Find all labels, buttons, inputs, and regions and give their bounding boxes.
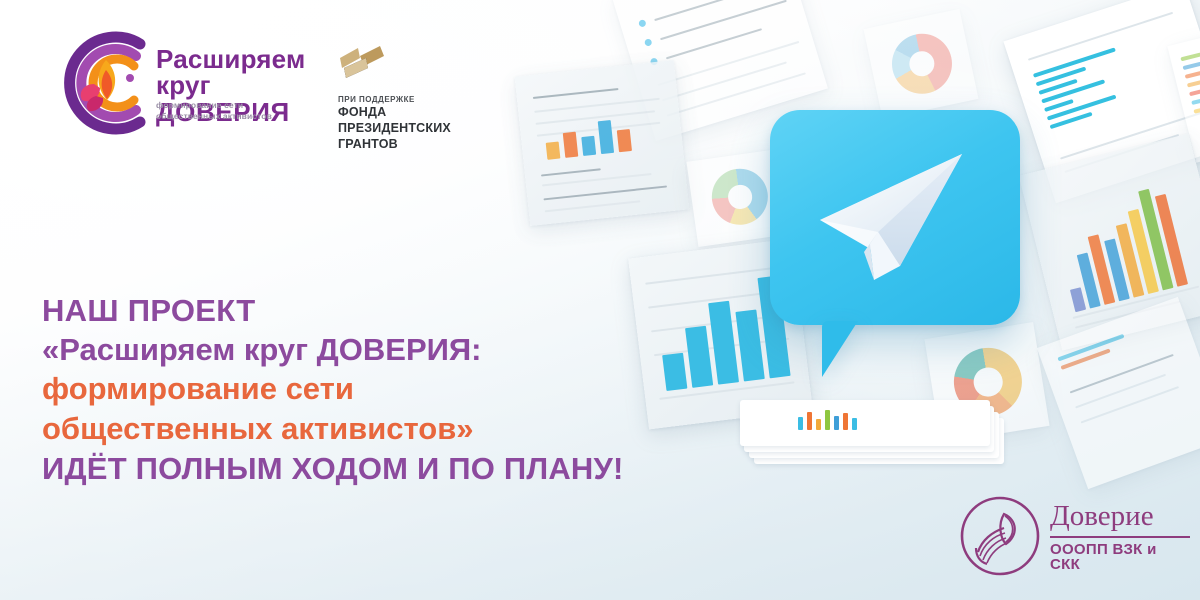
grants-name-line2: ПРЕЗИДЕНТСКИХ bbox=[338, 121, 468, 137]
stripe-bars bbox=[1180, 36, 1200, 114]
doverie-logo-text: Доверие ОООПП ВЗК и СКК bbox=[1050, 502, 1190, 572]
list-bullet-icon bbox=[638, 19, 647, 28]
paper-sheet-top bbox=[740, 400, 990, 446]
grants-name-line3: ГРАНТОВ bbox=[338, 137, 468, 153]
telegram-speech-bubble bbox=[770, 110, 1020, 325]
project-logo-subtitle: формирование сети общественных активисто… bbox=[156, 100, 276, 123]
donut-chart-muted bbox=[708, 165, 771, 228]
donut-chart-red-card bbox=[864, 9, 979, 119]
headline-line-3: формирование сети bbox=[42, 369, 742, 409]
bar bbox=[825, 410, 830, 430]
bar bbox=[852, 418, 857, 430]
presidential-grants-fund-logo: ПРИ ПОДДЕРЖКЕ ФОНДА ПРЕЗИДЕНТСКИХ ГРАНТО… bbox=[338, 44, 468, 152]
headline: НАШ ПРОЕКТ «Расширяем круг ДОВЕРИЯ: форм… bbox=[42, 292, 742, 489]
doverie-logo-rule bbox=[1050, 536, 1190, 538]
bar bbox=[546, 142, 561, 160]
bar bbox=[581, 136, 596, 156]
doc-line bbox=[1075, 374, 1166, 409]
doc-line bbox=[1081, 386, 1179, 423]
project-logo-title-line1: Расширяем круг bbox=[156, 46, 334, 98]
headline-line-2: «Расширяем круг ДОВЕРИЯ: bbox=[42, 330, 742, 370]
card-line bbox=[543, 185, 667, 200]
bar-chart-card-orange-blue bbox=[515, 60, 690, 226]
doverie-logo: Доверие ОООПП ВЗК и СКК bbox=[958, 492, 1188, 584]
bubble-tail bbox=[822, 321, 858, 377]
bar bbox=[834, 416, 839, 430]
circle-flame-butterfly-icon bbox=[44, 22, 162, 144]
bar bbox=[563, 132, 579, 158]
card-line bbox=[533, 88, 619, 99]
card-line bbox=[545, 200, 641, 212]
headline-line-5: ИДЁТ ПОЛНЫМ ХОДОМ И ПО ПЛАНУ! bbox=[42, 449, 742, 489]
list-line bbox=[662, 61, 787, 101]
content-block: Расширяем круг ДОВЕРИЯ формирование сети… bbox=[0, 0, 520, 600]
bar-group bbox=[798, 408, 857, 430]
promo-banner: Расширяем круг ДОВЕРИЯ формирование сети… bbox=[0, 0, 1200, 600]
bar bbox=[598, 120, 614, 154]
folded-ribbon-icon bbox=[338, 44, 388, 84]
bar bbox=[1070, 287, 1086, 312]
bar bbox=[816, 419, 821, 430]
grants-name-line1: ФОНДА bbox=[338, 105, 468, 121]
paper-stack bbox=[740, 400, 990, 470]
bar bbox=[807, 412, 812, 430]
grants-support-label: ПРИ ПОДДЕРЖКЕ bbox=[338, 95, 468, 105]
card-line bbox=[541, 168, 601, 176]
paper-plane-icon bbox=[812, 148, 982, 288]
list-line bbox=[660, 0, 787, 40]
bar bbox=[843, 413, 848, 430]
doverie-logo-subtitle: ОООПП ВЗК и СКК bbox=[1050, 542, 1190, 572]
gantt-bars bbox=[1033, 28, 1194, 130]
doverie-logo-title: Доверие bbox=[1050, 502, 1190, 531]
card-line bbox=[542, 173, 652, 186]
list-line bbox=[667, 72, 806, 116]
headline-line-1: НАШ ПРОЕКТ bbox=[42, 292, 742, 330]
hand-holding-leaf-circle-icon bbox=[958, 494, 1042, 578]
stripe-bar bbox=[1180, 41, 1200, 62]
list-bullet-icon bbox=[644, 38, 653, 47]
card-line bbox=[534, 98, 660, 113]
donut-chart-red-orange-blue bbox=[886, 28, 957, 99]
bar bbox=[798, 417, 803, 430]
summary-bars bbox=[1057, 334, 1127, 370]
headline-line-4: общественных активистов» bbox=[42, 409, 742, 449]
project-logo: Расширяем круг ДОВЕРИЯ формирование сети… bbox=[44, 22, 334, 148]
bar-group bbox=[543, 109, 632, 160]
bar bbox=[617, 129, 632, 152]
